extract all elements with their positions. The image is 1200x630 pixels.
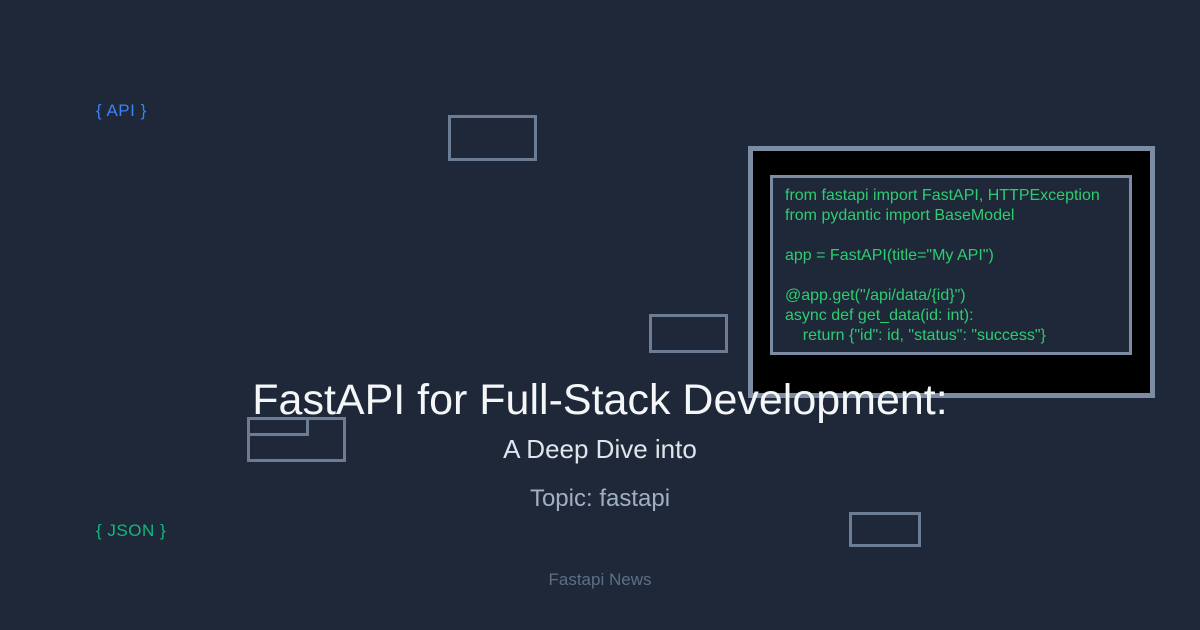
- decorative-rectangle: [448, 115, 537, 161]
- slide-canvas: { API } { JSON } from fastapi import Fas…: [0, 0, 1200, 630]
- code-snippet: from fastapi import FastAPI, HTTPExcepti…: [785, 186, 1100, 346]
- code-token-json: { JSON }: [96, 521, 166, 541]
- footer-brand: Fastapi News: [0, 569, 1200, 591]
- code-panel-inner: from fastapi import FastAPI, HTTPExcepti…: [770, 175, 1132, 355]
- code-token-api: { API }: [96, 101, 147, 121]
- topic-label: Topic: fastapi: [0, 485, 1200, 513]
- page-title: FastAPI for Full-Stack Development:: [0, 378, 1200, 422]
- decorative-rectangle: [849, 512, 921, 547]
- page-subtitle: A Deep Dive into: [0, 434, 1200, 464]
- code-panel: from fastapi import FastAPI, HTTPExcepti…: [748, 146, 1155, 398]
- decorative-rectangle: [649, 314, 728, 353]
